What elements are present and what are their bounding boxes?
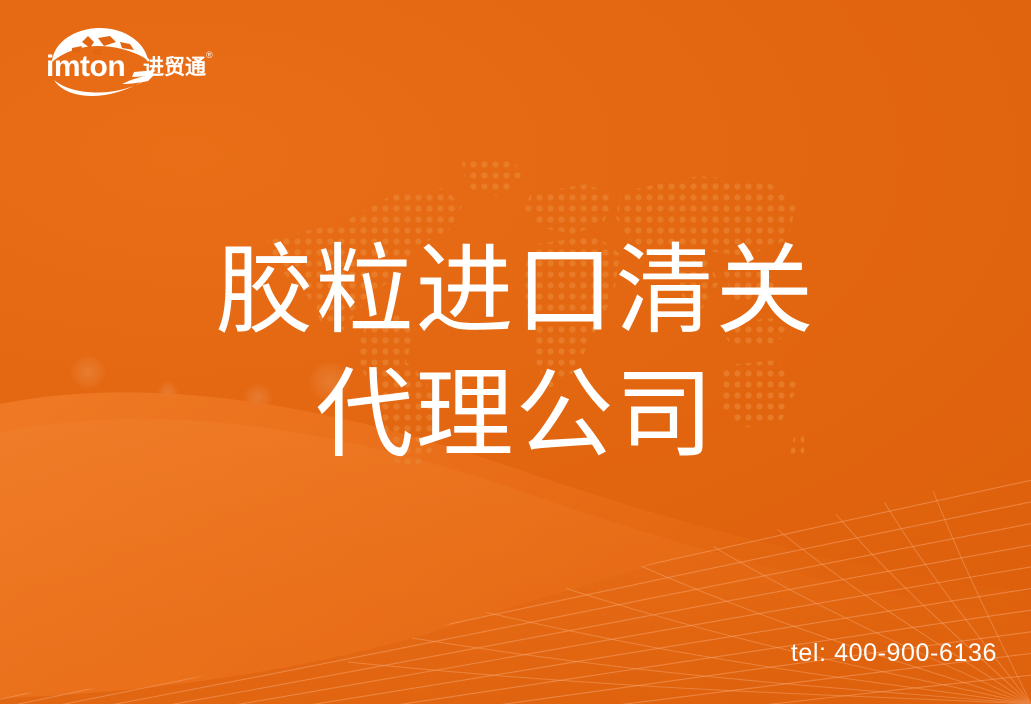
contact-phone[interactable]: tel: 400-900-6136 [791, 639, 997, 668]
headline-line-1: 胶粒进口清关 [0, 228, 1031, 352]
logo-chinese-name: 进贸通 [143, 55, 206, 79]
headline-line-2: 代理公司 [0, 352, 1031, 476]
promo-banner: imton 进贸通 ® 胶粒进口清关 代理公司 tel: 400-900-613… [0, 0, 1031, 704]
registered-trademark-symbol: ® [206, 50, 213, 60]
logo-wordmark: imton [46, 50, 125, 83]
headline: 胶粒进口清关 代理公司 [0, 228, 1031, 476]
imton-logo[interactable]: imton 进贸通 ® [38, 26, 216, 98]
